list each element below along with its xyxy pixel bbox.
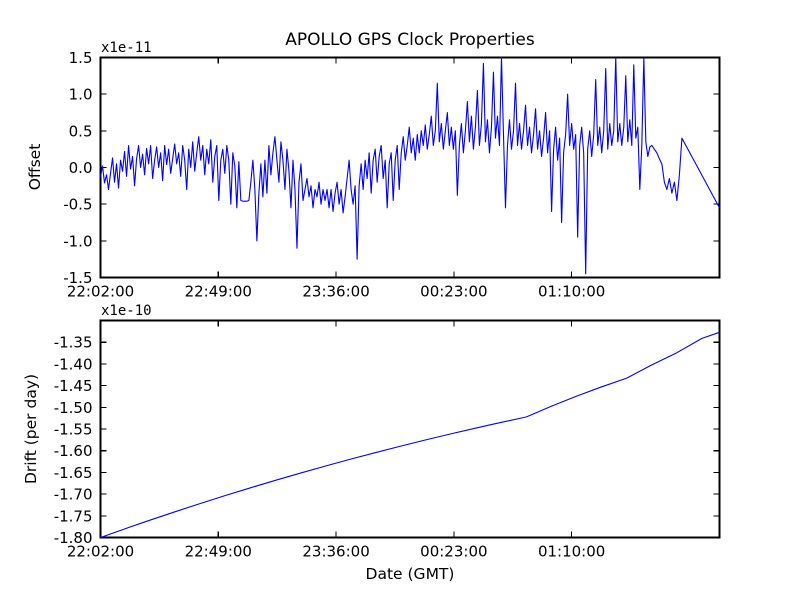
x-tick-label: 22:02:00 [67, 283, 134, 301]
x-tick-label: 22:02:00 [67, 543, 134, 561]
x-tick-label: 22:49:00 [185, 543, 252, 561]
x-tick-label: 23:36:00 [302, 283, 369, 301]
y-tick-label: -1.60 [54, 442, 93, 460]
drift-y-axis-label: Drift (per day) [22, 374, 40, 484]
y-tick-label: -1.40 [54, 355, 93, 373]
x-tick-label: 00:23:00 [420, 283, 487, 301]
y-tick-label: -1.55 [54, 421, 93, 439]
y-tick-label: -1.75 [54, 507, 93, 525]
x-tick-label: 01:10:00 [538, 543, 605, 561]
x-tick-label: 00:23:00 [420, 543, 487, 561]
offset-y-exponent-label: x1e-11 [101, 40, 152, 56]
x-tick-label: 22:49:00 [185, 283, 252, 301]
page-title: APOLLO GPS Clock Properties [285, 30, 535, 50]
x-tick-label: 23:36:00 [302, 543, 369, 561]
drift-x-axis-label: Date (GMT) [366, 565, 455, 583]
matplotlib-figure: APOLLO GPS Clock Properties x1e-11 -1.5-… [0, 0, 800, 600]
drift-y-exponent-label: x1e-10 [101, 303, 152, 319]
offset-y-axis-label: Offset [26, 144, 44, 191]
y-tick-label: -1.35 [54, 334, 93, 352]
y-tick-label: -1.45 [54, 377, 93, 395]
y-tick-label: -1.0 [63, 232, 92, 250]
y-tick-label: -0.5 [63, 196, 92, 214]
y-tick-label: -1.50 [54, 399, 93, 417]
y-tick-label: 1.5 [69, 49, 93, 67]
y-tick-label: 0.0 [69, 159, 93, 177]
y-tick-label: -1.65 [54, 464, 93, 482]
y-tick-label: -1.70 [54, 486, 93, 504]
x-tick-label: 01:10:00 [538, 283, 605, 301]
figure-canvas: APOLLO GPS Clock Properties x1e-11 -1.5-… [0, 0, 800, 600]
y-tick-label: 0.5 [69, 122, 93, 140]
y-tick-label: 1.0 [69, 86, 93, 104]
